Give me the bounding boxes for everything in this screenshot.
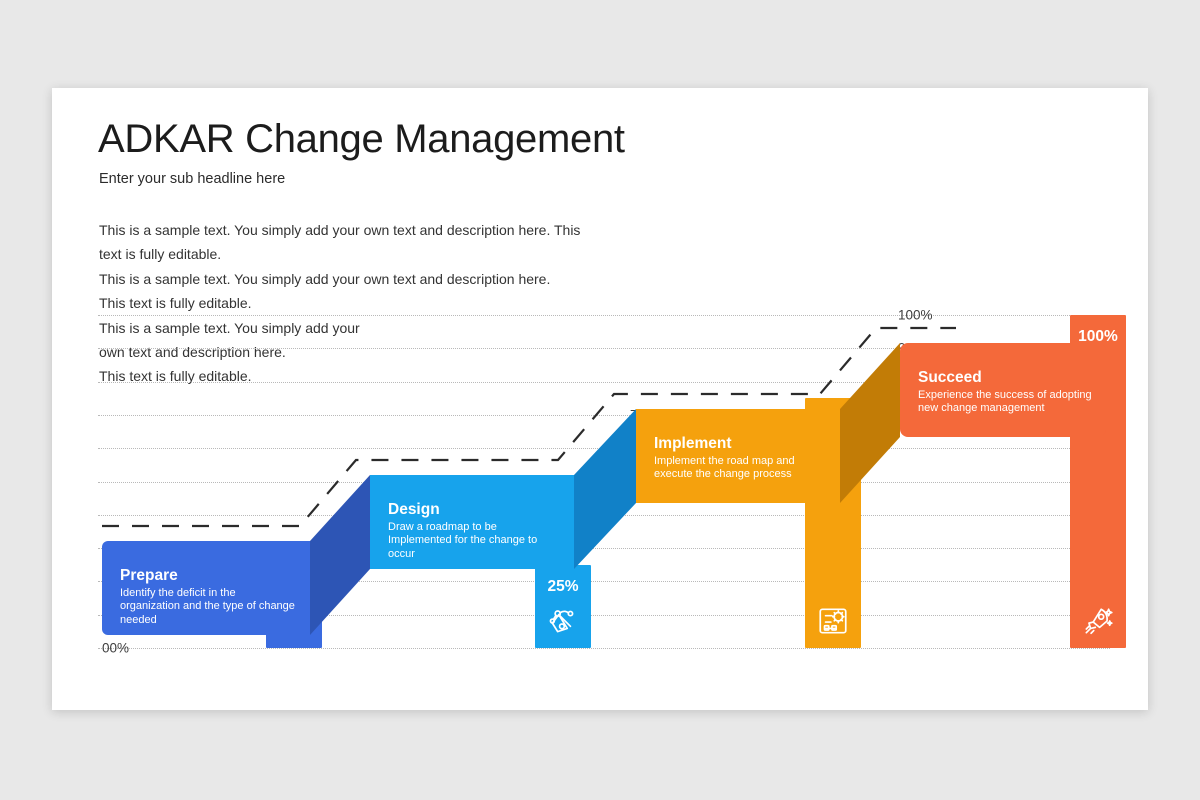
- slide-canvas: ADKAR Change Management Enter your sub h…: [52, 88, 1148, 710]
- bar-design[interactable]: 25%: [535, 565, 591, 648]
- step-description: Experience the success of adopting new c…: [918, 389, 1092, 416]
- step-text: SucceedExperience the success of adoptin…: [918, 369, 1092, 416]
- step-ramp-design: [574, 409, 636, 569]
- process-gear-icon: [816, 604, 850, 638]
- rocket-launch-icon: [1081, 604, 1115, 638]
- step-text: ImplementImplement the road map and exec…: [654, 435, 826, 482]
- step-prepare[interactable]: PrepareIdentify the deficit in the organ…: [102, 541, 310, 635]
- step-text: DesignDraw a roadmap to be Implemented f…: [388, 501, 560, 561]
- step-implement[interactable]: ImplementImplement the road map and exec…: [636, 409, 840, 503]
- axis-tick-label: 100%: [898, 308, 933, 323]
- step-title: Prepare: [120, 567, 296, 585]
- step-description: Identify the deficit in the organization…: [120, 587, 296, 627]
- step-text: PrepareIdentify the deficit in the organ…: [120, 567, 296, 627]
- step-ramp-prepare: [310, 475, 370, 635]
- page-subtitle: Enter your sub headline here: [99, 171, 285, 187]
- step-title: Implement: [654, 435, 826, 453]
- staircase-bar-chart: 20%10%00%50%40%30%70%60%100%90%80% 20%25…: [98, 208, 1110, 708]
- page-title: ADKAR Change Management: [98, 117, 625, 162]
- gridline: [98, 648, 1110, 649]
- step-title: Design: [388, 501, 560, 519]
- gridline: [98, 315, 1110, 316]
- pen-tool-icon: [546, 604, 580, 638]
- step-description: Draw a roadmap to be Implemented for the…: [388, 521, 560, 561]
- step-ramp-implement: [840, 343, 900, 503]
- step-description: Implement the road map and execute the c…: [654, 455, 826, 482]
- axis-tick-label: 00%: [102, 641, 129, 656]
- step-design[interactable]: DesignDraw a roadmap to be Implemented f…: [370, 475, 574, 569]
- step-title: Succeed: [918, 369, 1092, 387]
- step-succeed[interactable]: SucceedExperience the success of adoptin…: [900, 343, 1106, 437]
- bar-value-label: 25%: [535, 578, 591, 596]
